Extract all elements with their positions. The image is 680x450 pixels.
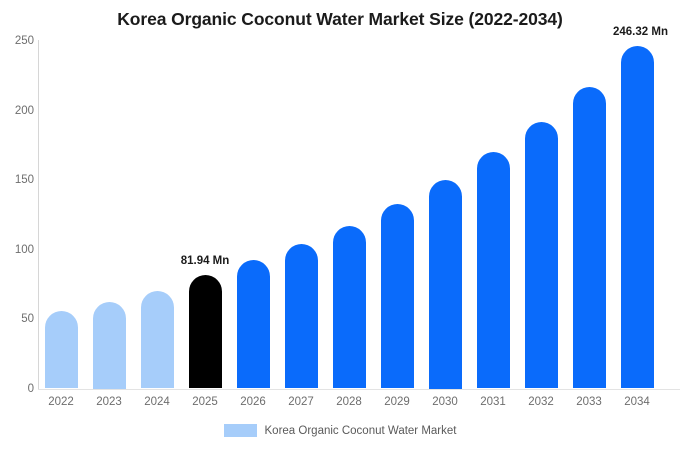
bar[interactable] [285,244,318,389]
bar[interactable] [237,260,270,388]
x-axis-tick: 2028 [323,396,376,408]
legend-swatch-icon [224,424,257,437]
bars-layer: 202220232024202581.94 Mn2026202720282029… [0,0,680,450]
x-axis-tick: 2033 [563,396,616,408]
x-axis-tick: 2025 [179,396,232,408]
x-axis-tick: 2022 [35,396,88,408]
bar-value-label: 246.32 Mn [613,26,668,38]
x-axis-tick: 2032 [515,396,568,408]
x-axis-tick: 2023 [83,396,136,408]
x-axis-tick: 2029 [371,396,424,408]
bar[interactable] [381,204,414,389]
x-axis-tick: 2024 [131,396,184,408]
bar[interactable] [189,275,222,389]
legend-item[interactable]: Korea Organic Coconut Water Market [224,424,457,437]
x-axis-tick: 2030 [419,396,472,408]
legend-item-label: Korea Organic Coconut Water Market [265,425,457,437]
bar[interactable] [141,291,174,389]
x-axis-tick: 2027 [275,396,328,408]
bar[interactable] [621,46,654,388]
bar[interactable] [45,311,78,389]
x-axis-tick: 2026 [227,396,280,408]
bar[interactable] [573,87,606,389]
bar-value-label: 81.94 Mn [171,255,240,267]
bar[interactable] [93,302,126,389]
bar[interactable] [477,152,510,388]
bar[interactable] [525,122,558,389]
bar-chart: Korea Organic Coconut Water Market Size … [0,0,680,450]
x-axis-tick: 2034 [611,396,664,408]
x-axis-tick: 2031 [467,396,520,408]
bar[interactable] [429,180,462,389]
bar[interactable] [333,226,366,389]
chart-legend: Korea Organic Coconut Water Market [0,424,680,437]
